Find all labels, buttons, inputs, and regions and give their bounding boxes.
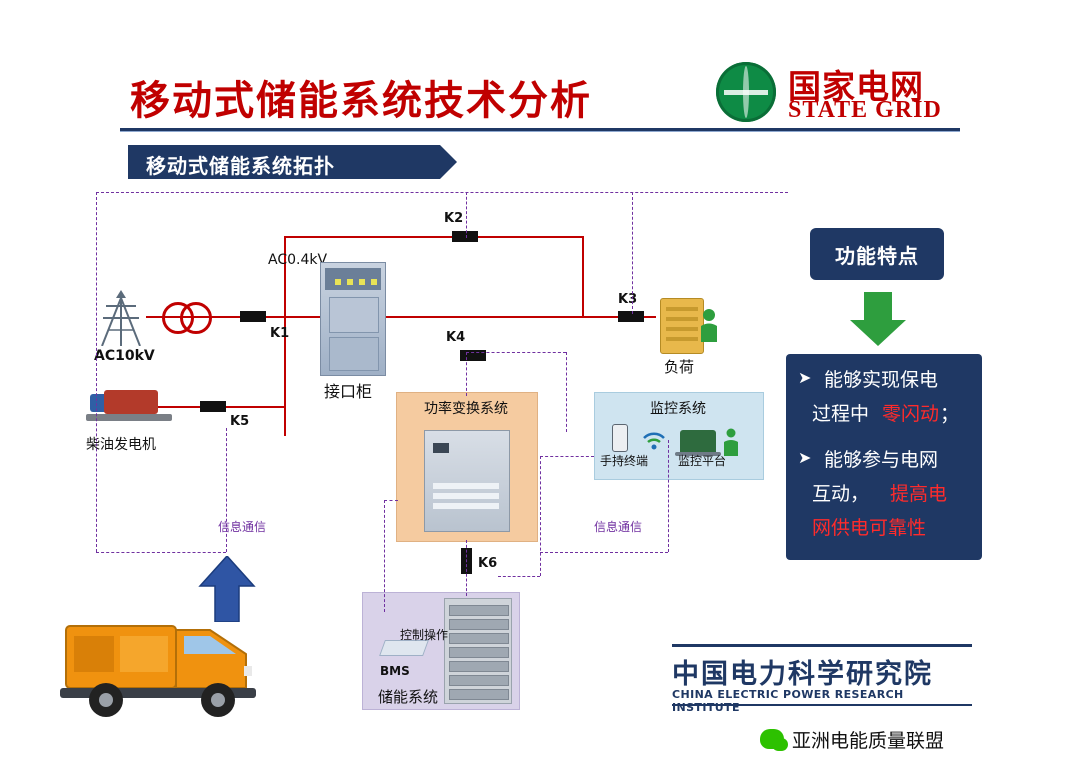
feature-bullet-2: ➤: [798, 448, 811, 467]
comm-left-label: 信息通信: [218, 518, 266, 535]
line-top-k2: [284, 236, 584, 238]
wechat-icon: [760, 729, 784, 749]
platform-label: 监控平台: [678, 452, 726, 469]
comm-k4-to-monitor: [566, 352, 567, 432]
feature-header-label: 功能特点: [835, 240, 919, 269]
load-label: 负荷: [664, 356, 694, 377]
green-down-arrow-icon: [848, 292, 908, 346]
feature-2-line-2a: 互动，: [812, 478, 869, 510]
comm-monitor-down: [540, 456, 541, 576]
monitoring-label: 监控系统: [594, 398, 762, 418]
interface-cabinet-label: 接口柜: [324, 378, 372, 402]
comm-pcs-to-monitor: [540, 456, 594, 457]
comm-bess-right-join: [498, 576, 540, 577]
comm-top-bus: [96, 192, 788, 193]
mobile-energy-storage-truck-image: [60, 596, 280, 724]
feature-header-badge: 功能特点: [810, 228, 944, 280]
comm-bess-left: [384, 500, 385, 612]
feature-2-line-2-highlight: 提高电: [890, 478, 947, 510]
feature-list-box: ➤ 能够实现保电 过程中 零闪动 ； ➤ 能够参与电网 互动， 提高电 网供电可…: [786, 354, 982, 560]
institute-rule-bottom: [672, 704, 972, 706]
feature-1-line-2b: ；: [940, 398, 959, 430]
breaker-k5-label: K5: [230, 414, 249, 429]
ac04kv-label: AC0.4kV: [268, 252, 327, 268]
comm-right-vertical: [668, 440, 669, 552]
feature-2-line-3-highlight: 网供电可靠性: [812, 512, 926, 544]
transmission-tower-icon: [96, 290, 146, 346]
wechat-account-name: 亚洲电能质量联盟: [792, 726, 944, 753]
feature-2-line-1: 能够参与电网: [824, 444, 938, 476]
breaker-k2: [452, 231, 478, 242]
monitor-laptop-icon: [680, 430, 716, 452]
state-grid-logo-en: STATE GRID: [788, 97, 942, 124]
comm-k4-branch: [466, 352, 467, 396]
comm-left-bottom: [96, 552, 226, 553]
page-title: 移动式储能系统技术分析: [130, 68, 592, 126]
battery-rack-image: [444, 598, 512, 704]
comm-bess-left-join: [384, 500, 398, 501]
breaker-k2-label: K2: [444, 211, 463, 226]
diesel-generator-icon: [86, 382, 172, 426]
institute-rule-top: [672, 644, 972, 647]
title-divider-thin: [120, 131, 960, 132]
breaker-k6-label: K6: [478, 556, 497, 571]
feature-1-line-2a: 过程中: [812, 398, 869, 430]
institute-name-cn: 中国电力科学研究院: [672, 652, 933, 691]
transformer-icon: [162, 300, 218, 330]
feature-1-line-2-highlight: 零闪动: [882, 398, 939, 430]
comm-right-bottom: [540, 552, 668, 553]
comm-right-label: 信息通信: [594, 518, 642, 535]
breaker-k3: [618, 311, 644, 322]
section-banner-label: 移动式储能系统拓扑: [146, 150, 335, 179]
comm-left-vertical: [96, 192, 97, 552]
line-cabinet-to-load: [384, 316, 656, 318]
comm-pcs-to-bess: [466, 540, 467, 596]
comm-k4-horizontal: [466, 352, 566, 353]
wechat-footer: 亚洲电能质量联盟: [760, 724, 1040, 754]
handheld-label: 手持终端: [600, 452, 648, 469]
bms-label: BMS: [380, 664, 410, 678]
comm-k2-branch: [466, 192, 467, 238]
state-grid-logo: 国家电网 STATE GRID: [716, 60, 966, 124]
storage-label: 储能系统: [378, 686, 438, 707]
breaker-k1-label: K1: [270, 326, 289, 341]
feature-1-line-1: 能够实现保电: [824, 364, 938, 396]
breaker-k4-label: K4: [446, 330, 465, 345]
control-label: 控制操作: [400, 626, 448, 643]
wifi-icon: [640, 428, 668, 450]
breaker-k1: [240, 311, 266, 322]
line-down-to-k3: [582, 236, 584, 318]
slide-root: 移动式储能系统技术分析 国家电网 STATE GRID 移动式储能系统拓扑 K1…: [0, 0, 1080, 764]
breaker-k3-label: K3: [618, 292, 637, 307]
interface-cabinet-image: [320, 262, 386, 376]
pcs-label: 功率变换系统: [396, 398, 536, 418]
load-person-icon: [698, 308, 720, 350]
section-banner: 移动式储能系统拓扑: [128, 145, 440, 179]
ac10kv-label: AC10kV: [94, 348, 155, 364]
pcs-unit-image: [424, 430, 510, 532]
feature-bullet-1: ➤: [798, 368, 811, 387]
state-grid-globe-icon: [716, 62, 776, 122]
institute-name-en: CHINA ELECTRIC POWER RESEARCH INSTITUTE: [672, 688, 972, 714]
breaker-k5: [200, 401, 226, 412]
comm-k3-branch: [632, 192, 633, 314]
handheld-phone-icon: [612, 424, 628, 452]
